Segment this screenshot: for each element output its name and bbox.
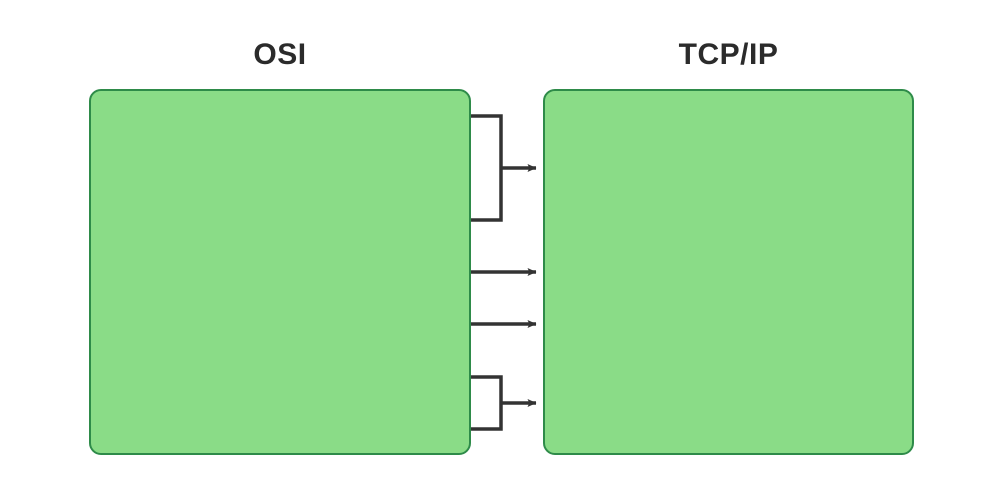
application-group-bracket — [471, 116, 536, 220]
osi-layer-stack — [89, 89, 471, 455]
osi-tcpip-comparison-diagram: OSI TCP/IP — [0, 0, 1000, 500]
tcpip-column-title: TCP/IP — [543, 38, 914, 72]
network-access-bracket — [471, 377, 536, 429]
osi-column-title: OSI — [89, 38, 471, 72]
tcpip-layer-stack — [543, 89, 914, 455]
